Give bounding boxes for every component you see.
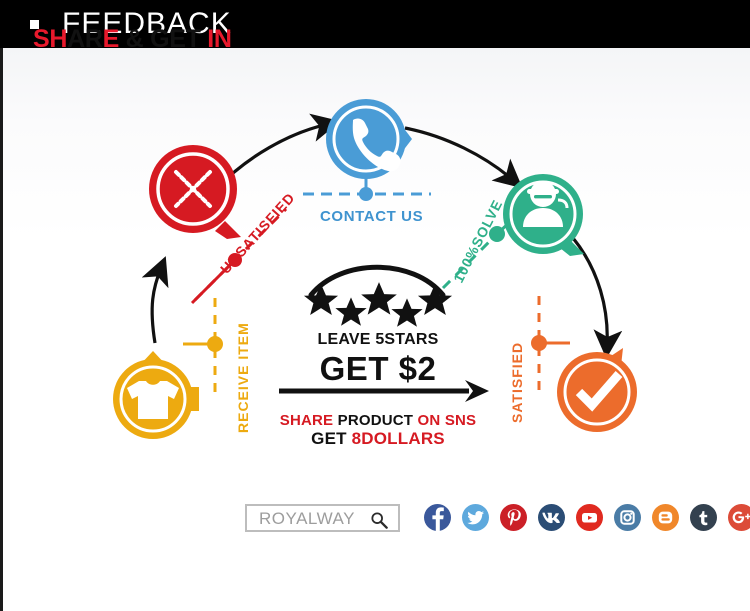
flow-diagram: [3, 48, 750, 465]
share-get-in-text: SHARE & GET IN: [33, 25, 232, 54]
blogger-icon: [652, 504, 679, 531]
social-links: [424, 504, 750, 531]
bottom-bar: [0, 465, 750, 611]
share-product-text: SHARE PRODUCT ON SNS: [3, 412, 750, 429]
share-seg-3: E: [103, 25, 119, 53]
search-input[interactable]: ROYALWAY: [245, 504, 400, 532]
social-youtube[interactable]: [576, 504, 603, 531]
star-icon: [391, 298, 422, 326]
social-blogger[interactable]: [652, 504, 679, 531]
instagram-icon: [614, 504, 641, 531]
googleplus-icon: [728, 504, 750, 531]
social-facebook[interactable]: [424, 504, 451, 531]
vk-icon: [538, 504, 565, 531]
get-8-dollars-text: GET 8DOLLARS: [3, 429, 750, 449]
share-seg-1: SH: [33, 25, 67, 53]
social-instagram[interactable]: [614, 504, 641, 531]
social-twitter[interactable]: [462, 504, 489, 531]
star-icon: [304, 284, 338, 315]
eight-dollars-word: 8DOLLARS: [352, 429, 445, 448]
facebook-icon: [424, 504, 451, 531]
product-word: PRODUCT: [338, 412, 418, 429]
connector-contact-to-solve: [405, 128, 513, 180]
leave-5-stars-text: LEAVE 5STARS: [3, 331, 750, 349]
get-2-dollars-text: GET $2: [3, 350, 750, 388]
on-sns-word: ON SNS: [418, 412, 477, 429]
social-vk[interactable]: [538, 504, 565, 531]
star-rating-group: [304, 282, 452, 327]
node-label-contact: CONTACT US: [320, 208, 423, 225]
star-icon: [418, 284, 452, 315]
feedback-banner-page: FEEDBACK: [0, 0, 750, 611]
social-pinterest[interactable]: [500, 504, 527, 531]
social-tumblr[interactable]: [690, 504, 717, 531]
infographic-stage: CONTACT US UNSATISFIED 100%SOLVE RECEIVE…: [0, 48, 750, 465]
search-input-value[interactable]: ROYALWAY: [259, 509, 355, 529]
pinterest-icon: [500, 504, 527, 531]
get-word: GET: [311, 429, 351, 448]
youtube-icon: [576, 504, 603, 531]
social-googleplus[interactable]: [728, 504, 750, 531]
node-contact[interactable]: [326, 99, 412, 179]
share-seg-5: IN: [207, 25, 231, 53]
tumblr-icon: [690, 504, 717, 531]
star-icon: [361, 282, 397, 314]
star-icon: [335, 297, 366, 325]
share-seg-4: & GET: [119, 25, 207, 53]
node-unsatisfied[interactable]: [149, 145, 241, 239]
share-seg-2: AR: [67, 25, 103, 53]
share-word: SHARE: [280, 412, 338, 429]
twitter-icon: [462, 504, 489, 531]
magnifier-icon[interactable]: [370, 511, 388, 529]
node-solve[interactable]: [503, 174, 584, 256]
